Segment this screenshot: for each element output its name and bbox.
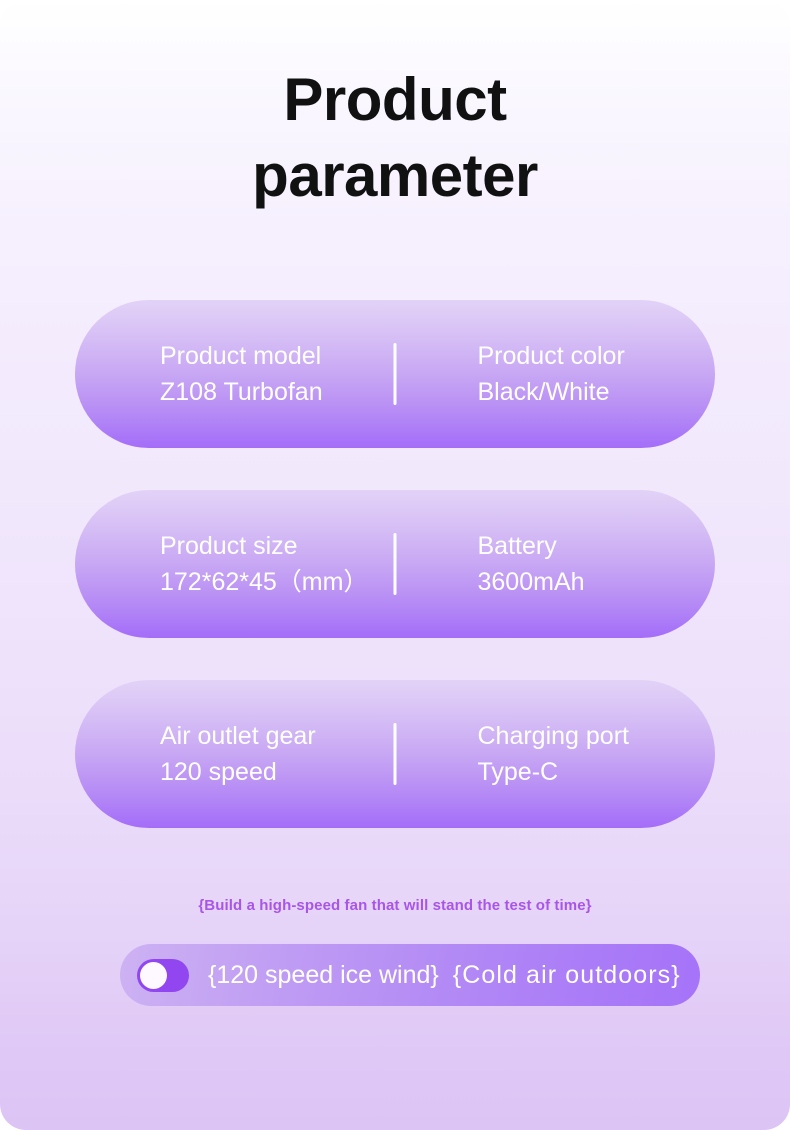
toggle-knob-icon <box>140 962 167 989</box>
page-title: Product parameter <box>0 62 790 214</box>
parameter-value: Type-C <box>478 754 716 790</box>
feature-bar: {120 speed ice wind}{Cold air outdoors} <box>120 944 700 1006</box>
page-title-line-1: Product <box>0 62 790 138</box>
parameter-label: Product size <box>160 528 398 564</box>
product-parameter-page: Product parameter Product model Z108 Tur… <box>0 0 790 1130</box>
parameter-cell-product-color: Product color Black/White <box>398 338 716 410</box>
parameter-cell-battery: Battery 3600mAh <box>398 528 716 600</box>
parameter-value: 172*62*45（mm） <box>160 564 398 600</box>
page-title-line-2: parameter <box>0 138 790 214</box>
card-divider <box>394 343 397 405</box>
parameter-label: Charging port <box>478 718 716 754</box>
parameter-cell-product-size: Product size 172*62*45（mm） <box>75 528 398 600</box>
parameter-cell-charging-port: Charging port Type-C <box>398 718 716 790</box>
parameter-card-1: Product model Z108 Turbofan Product colo… <box>75 300 715 448</box>
parameter-value: 3600mAh <box>478 564 716 600</box>
tagline-text: {Build a high-speed fan that will stand … <box>0 895 790 917</box>
parameter-label: Air outlet gear <box>160 718 398 754</box>
parameter-value: Black/White <box>478 374 716 410</box>
parameter-label: Product color <box>478 338 716 374</box>
card-divider <box>394 533 397 595</box>
parameter-label: Product model <box>160 338 398 374</box>
parameter-cell-air-outlet-gear: Air outlet gear 120 speed <box>75 718 398 790</box>
card-divider <box>394 723 397 785</box>
parameter-card-2: Product size 172*62*45（mm） Battery 3600m… <box>75 490 715 638</box>
parameter-label: Battery <box>478 528 716 564</box>
parameter-cell-product-model: Product model Z108 Turbofan <box>75 338 398 410</box>
feature-bar-text: {120 speed ice wind}{Cold air outdoors} <box>208 960 681 990</box>
parameter-value: Z108 Turbofan <box>160 374 398 410</box>
parameter-value: 120 speed <box>160 754 398 790</box>
toggle-switch[interactable] <box>137 959 189 992</box>
feature-phrase-2: {Cold air outdoors} <box>453 961 681 989</box>
parameter-card-3: Air outlet gear 120 speed Charging port … <box>75 680 715 828</box>
feature-phrase-1: {120 speed ice wind} <box>208 961 439 989</box>
